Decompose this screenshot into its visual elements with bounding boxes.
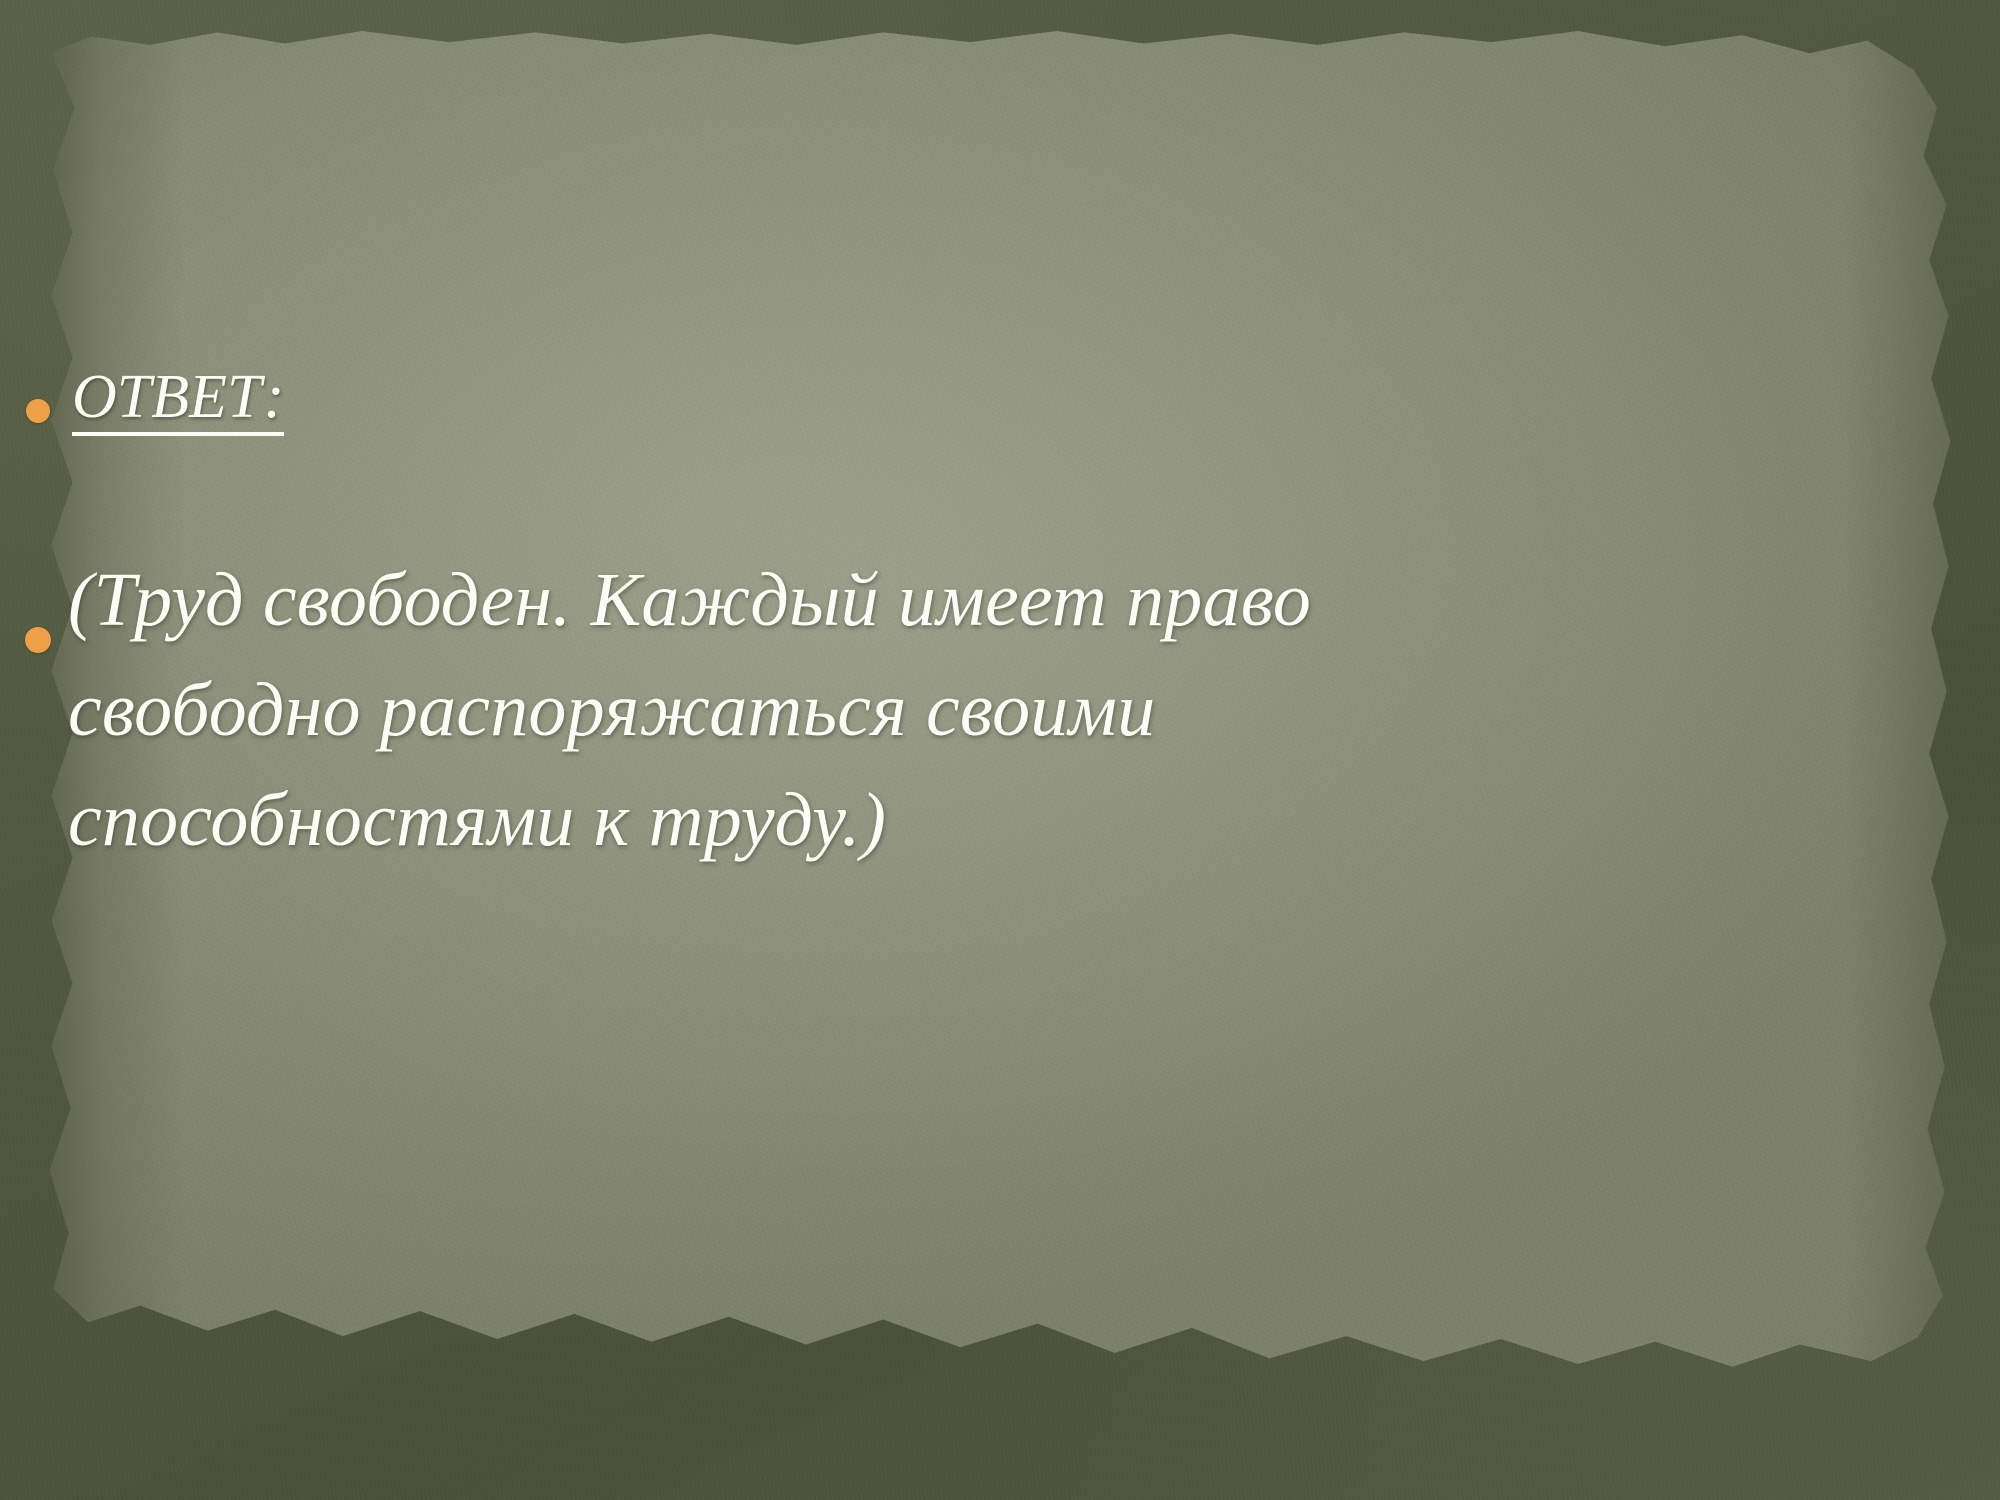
- bullet-dot-icon: [25, 627, 51, 653]
- slide-content: ОТВЕТ: (Труд свободен. Каждый имеет прав…: [0, 0, 2000, 1500]
- answer-quote-text: (Труд свободен. Каждый имеет право свобо…: [68, 545, 1458, 876]
- answer-label: ОТВЕТ:: [72, 366, 284, 436]
- bullet-dot-icon: [26, 399, 50, 423]
- slide-canvas: ОТВЕТ: (Труд свободен. Каждый имеет прав…: [0, 0, 2000, 1500]
